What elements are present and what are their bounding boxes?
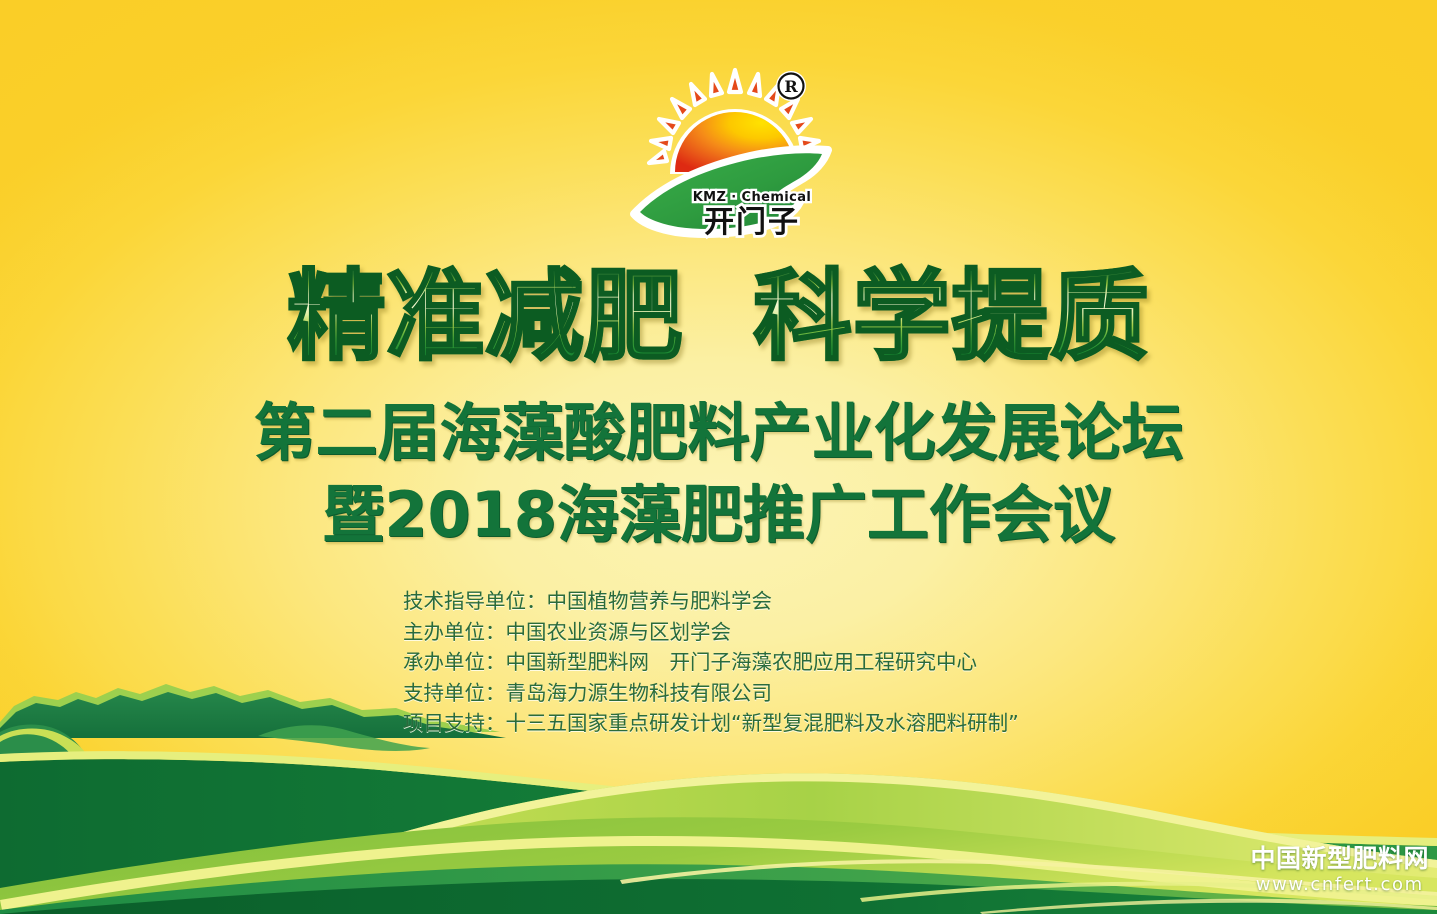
site-watermark: 中国新型肥料网 www.cnfert.com bbox=[1250, 844, 1429, 896]
company-logo: KMZ · Chemical 开门子 R bbox=[628, 62, 843, 247]
watermark-site-url: www.cnfert.com bbox=[1250, 874, 1429, 896]
watermark-site-name: 中国新型肥料网 bbox=[1250, 844, 1429, 874]
detail-line-supporter: 支持单位：青岛海力源生物科技有限公司 bbox=[403, 678, 1163, 709]
logo-brand-text: 开门子 bbox=[704, 205, 800, 240]
organizer-details-block: 技术指导单位：中国植物营养与肥料学会 主办单位：中国农业资源与区划学会 承办单位… bbox=[403, 586, 1163, 739]
detail-line-technical-guidance: 技术指导单位：中国植物营养与肥料学会 bbox=[403, 586, 1163, 617]
registered-trademark-icon: R bbox=[776, 71, 806, 101]
logo-latin-text: KMZ · Chemical bbox=[693, 190, 812, 205]
poster-canvas: KMZ · Chemical 开门子 R 精准减肥 科学提质 第二届海藻酸肥料产… bbox=[0, 0, 1437, 914]
detail-line-host: 主办单位：中国农业资源与区划学会 bbox=[403, 617, 1163, 648]
detail-line-organizer: 承办单位：中国新型肥料网 开门子海藻农肥应用工程研究中心 bbox=[403, 647, 1163, 678]
svg-text:R: R bbox=[784, 77, 798, 96]
detail-line-project-support: 项目支持：十三五国家重点研发计划“新型复混肥料及水溶肥料研制” bbox=[403, 708, 1163, 739]
